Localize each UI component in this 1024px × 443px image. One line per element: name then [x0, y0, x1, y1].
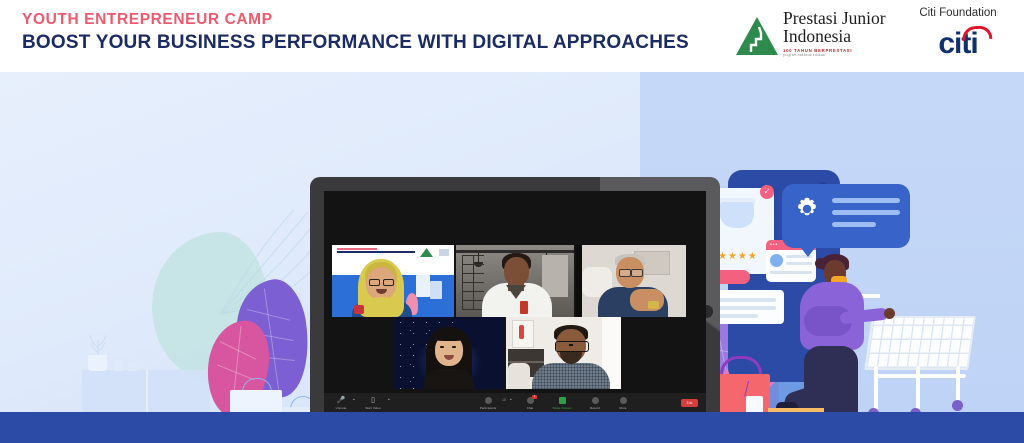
check-circle-icon: ✓	[760, 185, 774, 199]
citi-wordmark: citi	[908, 29, 1008, 59]
end-meeting-button[interactable]: End	[681, 399, 698, 407]
more-icon	[612, 396, 634, 404]
chat-badge: 1	[532, 395, 537, 399]
shopper-hand	[884, 308, 895, 319]
user-avatar-icon	[770, 254, 783, 267]
video-tile-participant-5[interactable]	[506, 317, 621, 389]
ellipsis-icon: •••	[770, 243, 778, 247]
cabinet-divider	[146, 370, 148, 412]
video-tile-participant-2[interactable]	[456, 245, 574, 317]
participants-button[interactable]: Participants	[476, 396, 500, 410]
chat-icon	[520, 396, 540, 404]
pji-line2: Indonesia	[783, 28, 881, 46]
citi-foundation-logo: Citi Foundation citi	[908, 8, 1008, 64]
bottom-color-bar	[0, 412, 1024, 443]
ecommerce-illustration: ✓ ★★★★★ •••	[706, 158, 1024, 412]
citi-foundation-label: Citi Foundation	[908, 8, 1008, 20]
prestasi-junior-indonesia-logo: Prestasi Junior Indonesia 100 TAHUN BERP…	[735, 12, 880, 62]
price-tag	[746, 396, 763, 412]
video-tile-presenter[interactable]	[332, 245, 454, 317]
monitor: 🎤 Unmute ▴ ▯ Start Video ▴ Participants …	[310, 177, 720, 412]
chat-button[interactable]: Chat	[520, 396, 540, 410]
record-button[interactable]: Record	[584, 396, 606, 410]
video-caret-icon[interactable]: ▴	[388, 397, 390, 401]
pji-wordmark: Prestasi Junior Indonesia 100 TAHUN BERP…	[783, 10, 881, 58]
triangle-mountain-icon	[735, 14, 779, 58]
zoom-toolbar: 🎤 Unmute ▴ ▯ Start Video ▴ Participants …	[324, 393, 706, 412]
gear-icon	[794, 196, 820, 222]
share-screen-icon	[546, 396, 578, 404]
microphone-icon: 🎤	[330, 396, 352, 404]
jar	[114, 360, 123, 371]
more-button[interactable]: More	[612, 396, 634, 410]
title-block: YOUTH ENTREPRENEUR CAMP BOOST YOUR BUSIN…	[22, 10, 689, 55]
event-kicker: YOUTH ENTREPRENEUR CAMP	[22, 10, 689, 29]
video-tile-participant-4[interactable]	[394, 317, 504, 389]
product-image	[720, 202, 754, 228]
video-tile-participant-3[interactable]	[576, 245, 686, 317]
mute-caret-icon[interactable]: ▴	[353, 397, 355, 401]
monitor-screen: 🎤 Unmute ▴ ▯ Start Video ▴ Participants …	[324, 191, 706, 412]
start-video-button[interactable]: ▯ Start Video	[360, 396, 386, 410]
participants-icon	[476, 396, 500, 404]
cart-lower-shelf	[874, 374, 967, 378]
slide-citi-logo-icon	[439, 249, 449, 256]
pji-subtagline: program nasional edukasi	[783, 53, 881, 57]
participants-count: 10	[502, 398, 506, 402]
mute-button[interactable]: 🎤 Unmute	[330, 396, 352, 410]
shopper-figure	[798, 256, 878, 412]
cart-basket	[864, 316, 976, 370]
participants-caret-icon[interactable]: ▴	[510, 397, 512, 401]
jar	[128, 363, 137, 371]
event-headline: BOOST YOUR BUSINESS PERFORMANCE WITH DIG…	[22, 31, 689, 55]
illustration-band: ✓ ★★★★★ •••	[0, 72, 1024, 412]
video-camera-icon: ▯	[360, 396, 386, 404]
share-screen-button[interactable]: Share Screen	[546, 396, 578, 410]
cart-wheel	[952, 400, 963, 411]
white-shopping-bag	[230, 390, 282, 412]
record-icon	[584, 396, 606, 404]
banner-canvas: YOUTH ENTREPRENEUR CAMP BOOST YOUR BUSIN…	[0, 0, 1024, 443]
banner-header: YOUTH ENTREPRENEUR CAMP BOOST YOUR BUSIN…	[0, 0, 1024, 72]
cart-leg	[916, 366, 920, 410]
plant-pot	[88, 355, 107, 371]
